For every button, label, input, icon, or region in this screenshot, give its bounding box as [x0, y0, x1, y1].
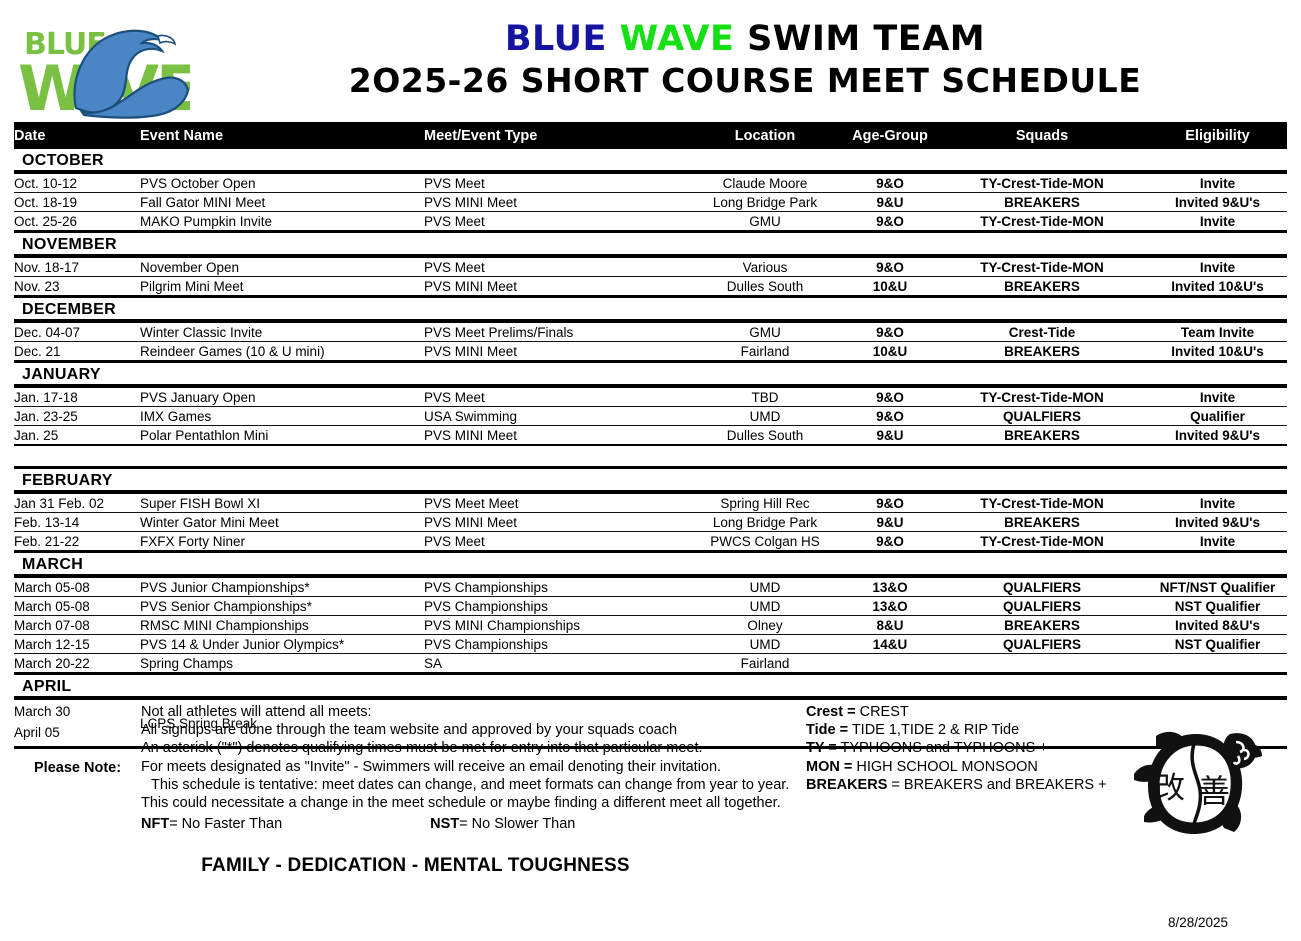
- table-row: Dec. 21Reindeer Games (10 & U mini)PVS M…: [14, 342, 1287, 362]
- cell-eligibility: [1148, 654, 1287, 674]
- cell-type: PVS Meet Prelims/Finals: [424, 321, 686, 342]
- cell-eligibility: Qualifier: [1148, 407, 1287, 426]
- cell-squads: QUALFIERS: [936, 576, 1148, 597]
- cell-squads: [936, 654, 1148, 674]
- note-line: For meets designated as "Invite" - Swimm…: [141, 758, 814, 776]
- cell-type: SA: [424, 654, 686, 674]
- blue-wave-logo-svg: BLUE W VE: [18, 12, 190, 120]
- cell-location: TBD: [686, 386, 844, 407]
- cell-event: Super FISH Bowl XI: [140, 492, 424, 513]
- cell-eligibility: Invited 9&U's: [1148, 513, 1287, 532]
- cell-squads: BREAKERS: [936, 342, 1148, 362]
- cell-event: FXFX Forty Niner: [140, 532, 424, 552]
- cell-date: Feb. 13-14: [14, 513, 140, 532]
- table-row: March 07-08RMSC MINI ChampionshipsPVS MI…: [14, 616, 1287, 635]
- cell-eligibility: Invited 10&U's: [1148, 342, 1287, 362]
- abbreviation-line: NFT= No Faster ThanNST= No Slower Than: [141, 815, 814, 833]
- table-row: March 20-22Spring ChampsSAFairland: [14, 654, 1287, 674]
- cell-age: [844, 445, 936, 468]
- table-row: Jan. 23-25IMX GamesUSA SwimmingUMD9&OQUA…: [14, 407, 1287, 426]
- cell-event: November Open: [140, 256, 424, 277]
- month-label: MARCH: [14, 552, 1287, 577]
- cell-squads: QUALFIERS: [936, 597, 1148, 616]
- cell-event: RMSC MINI Championships: [140, 616, 424, 635]
- cell-event: Polar Pentathlon Mini: [140, 426, 424, 446]
- note-line: Not all athletes will attend all meets:: [141, 703, 814, 721]
- cell-squads: Crest-Tide: [936, 321, 1148, 342]
- legend-item: MON = HIGH SCHOOL MONSOON: [806, 758, 1136, 776]
- cell-date: March 07-08: [14, 616, 140, 635]
- cell-squads: QUALFIERS: [936, 635, 1148, 654]
- cell-squads: QUALFIERS: [936, 407, 1148, 426]
- cell-location: Long Bridge Park: [686, 193, 844, 212]
- kaizen-turtle-icon: 改 善: [1126, 722, 1266, 848]
- cell-squads: BREAKERS: [936, 193, 1148, 212]
- table-row: Jan. 25Polar Pentathlon MiniPVS MINI Mee…: [14, 426, 1287, 446]
- cell-squads: BREAKERS: [936, 426, 1148, 446]
- cell-age: 9&U: [844, 513, 936, 532]
- page-title: BLUE WAVE SWIM TEAM: [200, 22, 1290, 58]
- schedule-table-wrapper: Date Event Name Meet/Event Type Location…: [14, 122, 1287, 749]
- cell-type: PVS Meet: [424, 532, 686, 552]
- column-header-age: Age-Group: [844, 122, 936, 149]
- cell-location: UMD: [686, 635, 844, 654]
- month-header-row: FEBRUARY: [14, 468, 1287, 493]
- cell-date: Jan 31 Feb. 02: [14, 492, 140, 513]
- cell-eligibility: Invite: [1148, 532, 1287, 552]
- cell-type: PVS Championships: [424, 576, 686, 597]
- team-tagline: FAMILY - DEDICATION - MENTAL TOUGHNESS: [0, 855, 1301, 877]
- cell-location: PWCS Colgan HS: [686, 532, 844, 552]
- table-header-row: Date Event Name Meet/Event Type Location…: [14, 122, 1287, 149]
- cell-eligibility: Invited 8&U's: [1148, 616, 1287, 635]
- cell-date: Jan. 17-18: [14, 386, 140, 407]
- cell-eligibility: NFT/NST Qualifier: [1148, 576, 1287, 597]
- cell-type: PVS MINI Meet: [424, 513, 686, 532]
- cell-squads: BREAKERS: [936, 277, 1148, 297]
- month-label: DECEMBER: [14, 297, 1287, 322]
- cell-location: Various: [686, 256, 844, 277]
- cell-location: Long Bridge Park: [686, 513, 844, 532]
- cell-date: Oct. 18-19: [14, 193, 140, 212]
- cell-date: March 05-08: [14, 597, 140, 616]
- please-note-block: Please Note: Not all athletes will atten…: [34, 703, 814, 833]
- cell-eligibility: Team Invite: [1148, 321, 1287, 342]
- cell-eligibility: Invited 9&U's: [1148, 426, 1287, 446]
- month-label: APRIL: [14, 674, 1287, 699]
- cell-squads: TY-Crest-Tide-MON: [936, 386, 1148, 407]
- title-blue-word: BLUE: [505, 19, 607, 59]
- cell-date: Nov. 18-17: [14, 256, 140, 277]
- document-date: 8/28/2025: [1168, 915, 1228, 930]
- month-header-row: MARCH: [14, 552, 1287, 577]
- month-label: NOVEMBER: [14, 232, 1287, 257]
- cell-type: PVS Meet: [424, 172, 686, 193]
- legend-abbr: Crest =: [806, 704, 856, 720]
- team-tagline-text: FAMILY - DEDICATION - MENTAL TOUGHNESS: [201, 855, 629, 876]
- cell-type: [424, 445, 686, 468]
- table-row: Nov. 23Pilgrim Mini MeetPVS MINI MeetDul…: [14, 277, 1287, 297]
- cell-event: Fall Gator MINI Meet: [140, 193, 424, 212]
- table-row: Feb. 21-22FXFX Forty NinerPVS MeetPWCS C…: [14, 532, 1287, 552]
- cell-event: Reindeer Games (10 & U mini): [140, 342, 424, 362]
- cell-age: 8&U: [844, 616, 936, 635]
- cell-location: Fairland: [686, 654, 844, 674]
- cell-date: [14, 445, 140, 468]
- cell-type: PVS MINI Meet: [424, 426, 686, 446]
- legend-abbr: TY =: [806, 740, 837, 756]
- cell-eligibility: Invite: [1148, 172, 1287, 193]
- table-spacer-row: [14, 445, 1287, 468]
- page-subtitle: 2O25-26 SHORT COURSE MEET SCHEDULE: [200, 64, 1290, 98]
- cell-event: Winter Classic Invite: [140, 321, 424, 342]
- table-row: Jan 31 Feb. 02Super FISH Bowl XIPVS Meet…: [14, 492, 1287, 513]
- cell-age: 9&O: [844, 212, 936, 232]
- column-header-squads: Squads: [936, 122, 1148, 149]
- cell-type: PVS MINI Meet: [424, 342, 686, 362]
- cell-location: Spring Hill Rec: [686, 492, 844, 513]
- cell-age: 9&O: [844, 492, 936, 513]
- page-header: BLUE W VE BLUE WAVE SWIM TEAM 2O25-26 SH…: [0, 0, 1301, 122]
- note-line: This could necessitate a change in the m…: [141, 794, 814, 812]
- table-row: Dec. 04-07Winter Classic InvitePVS Meet …: [14, 321, 1287, 342]
- cell-date: Dec. 04-07: [14, 321, 140, 342]
- month-header-row: DECEMBER: [14, 297, 1287, 322]
- cell-eligibility: NST Qualifier: [1148, 597, 1287, 616]
- legend-abbr: BREAKERS: [806, 777, 887, 793]
- please-note-label: Please Note:: [34, 759, 121, 777]
- cell-eligibility: [1148, 445, 1287, 468]
- cell-age: 9&O: [844, 256, 936, 277]
- cell-location: Olney: [686, 616, 844, 635]
- kanji-kaizen-right: 善: [1198, 772, 1230, 810]
- cell-age: 10&U: [844, 277, 936, 297]
- legend-text: HIGH SCHOOL MONSOON: [852, 759, 1038, 775]
- title-black-words: SWIM TEAM: [747, 19, 985, 59]
- cell-location: GMU: [686, 321, 844, 342]
- cell-date: Oct. 25-26: [14, 212, 140, 232]
- cell-age: 9&O: [844, 386, 936, 407]
- cell-location: Dulles South: [686, 277, 844, 297]
- note-line: This schedule is tentative: meet dates c…: [141, 776, 814, 794]
- cell-date: Jan. 25: [14, 426, 140, 446]
- month-header-row: OCTOBER: [14, 149, 1287, 172]
- cell-age: [844, 654, 936, 674]
- cell-event: PVS October Open: [140, 172, 424, 193]
- table-row: March 05-08PVS Senior Championships*PVS …: [14, 597, 1287, 616]
- cell-type: PVS Championships: [424, 597, 686, 616]
- cell-location: UMD: [686, 597, 844, 616]
- cell-type: PVS MINI Meet: [424, 277, 686, 297]
- legend-text: TYPHOONS and TYPHOONS +: [837, 740, 1048, 756]
- column-header-location: Location: [686, 122, 844, 149]
- meet-schedule-table: Date Event Name Meet/Event Type Location…: [14, 122, 1287, 749]
- table-row: Oct. 25-26MAKO Pumpkin InvitePVS MeetGMU…: [14, 212, 1287, 232]
- cell-date: Nov. 23: [14, 277, 140, 297]
- column-header-event: Event Name: [140, 122, 424, 149]
- cell-age: 9&O: [844, 407, 936, 426]
- cell-event: PVS Senior Championships*: [140, 597, 424, 616]
- column-header-type: Meet/Event Type: [424, 122, 686, 149]
- cell-eligibility: Invite: [1148, 492, 1287, 513]
- legend-abbr: Tide =: [806, 722, 848, 738]
- nst-text: = No Slower Than: [459, 816, 575, 832]
- cell-location: UMD: [686, 576, 844, 597]
- cell-eligibility: Invite: [1148, 256, 1287, 277]
- nft-text: = No Faster Than: [169, 816, 282, 832]
- note-lines: Not all athletes will attend all meets:A…: [141, 703, 814, 833]
- cell-event: Pilgrim Mini Meet: [140, 277, 424, 297]
- cell-type: PVS Meet: [424, 386, 686, 407]
- cell-age: 9&U: [844, 193, 936, 212]
- cell-event: IMX Games: [140, 407, 424, 426]
- cell-event: Winter Gator Mini Meet: [140, 513, 424, 532]
- cell-squads: BREAKERS: [936, 513, 1148, 532]
- cell-event: PVS Junior Championships*: [140, 576, 424, 597]
- legend-item: BREAKERS = BREAKERS and BREAKERS +: [806, 776, 1136, 794]
- cell-date: Dec. 21: [14, 342, 140, 362]
- cell-location: GMU: [686, 212, 844, 232]
- blue-wave-logo: BLUE W VE: [18, 12, 190, 120]
- cell-eligibility: Invite: [1148, 212, 1287, 232]
- cell-event: Spring Champs: [140, 654, 424, 674]
- cell-date: March 05-08: [14, 576, 140, 597]
- table-row: Nov. 18-17November OpenPVS MeetVarious9&…: [14, 256, 1287, 277]
- table-row: Oct. 18-19Fall Gator MINI MeetPVS MINI M…: [14, 193, 1287, 212]
- cell-type: PVS MINI Championships: [424, 616, 686, 635]
- squad-legend: Crest = CRESTTide = TIDE 1,TIDE 2 & RIP …: [806, 703, 1136, 794]
- table-row: March 05-08PVS Junior Championships*PVS …: [14, 576, 1287, 597]
- cell-age: 9&O: [844, 321, 936, 342]
- cell-squads: TY-Crest-Tide-MON: [936, 172, 1148, 193]
- table-row: Oct. 10-12PVS October OpenPVS MeetClaude…: [14, 172, 1287, 193]
- note-line: An asterisk ("*") denotes qualifying tim…: [141, 739, 814, 757]
- cell-type: PVS Championships: [424, 635, 686, 654]
- legend-item: TY = TYPHOONS and TYPHOONS +: [806, 739, 1136, 757]
- cell-age: 14&U: [844, 635, 936, 654]
- legend-item: Tide = TIDE 1,TIDE 2 & RIP Tide: [806, 721, 1136, 739]
- cell-event: [140, 445, 424, 468]
- kanji-kaizen-left: 改: [1155, 771, 1185, 806]
- table-row: Jan. 17-18PVS January OpenPVS MeetTBD9&O…: [14, 386, 1287, 407]
- month-header-row: JANUARY: [14, 362, 1287, 387]
- legend-abbr: MON =: [806, 759, 852, 775]
- month-label: FEBRUARY: [14, 468, 1287, 493]
- legend-text: CREST: [856, 704, 909, 720]
- column-header-eligibility: Eligibility: [1148, 122, 1287, 149]
- cell-age: 10&U: [844, 342, 936, 362]
- nft-abbr: NFT: [141, 816, 169, 832]
- cell-squads: TY-Crest-Tide-MON: [936, 256, 1148, 277]
- cell-event: PVS January Open: [140, 386, 424, 407]
- cell-squads: TY-Crest-Tide-MON: [936, 492, 1148, 513]
- table-head: Date Event Name Meet/Event Type Location…: [14, 122, 1287, 149]
- month-header-row: APRIL: [14, 674, 1287, 699]
- cell-location: Dulles South: [686, 426, 844, 446]
- cell-squads: TY-Crest-Tide-MON: [936, 212, 1148, 232]
- cell-date: Oct. 10-12: [14, 172, 140, 193]
- cell-eligibility: NST Qualifier: [1148, 635, 1287, 654]
- cell-squads: TY-Crest-Tide-MON: [936, 532, 1148, 552]
- cell-eligibility: Invite: [1148, 386, 1287, 407]
- cell-date: March 20-22: [14, 654, 140, 674]
- cell-event: PVS 14 & Under Junior Olympics*: [140, 635, 424, 654]
- cell-eligibility: Invited 10&U's: [1148, 277, 1287, 297]
- nst-abbr: NST: [430, 816, 459, 832]
- cell-age: 13&O: [844, 576, 936, 597]
- cell-eligibility: Invited 9&U's: [1148, 193, 1287, 212]
- legend-text: = BREAKERS and BREAKERS +: [887, 777, 1106, 793]
- cell-type: PVS Meet: [424, 256, 686, 277]
- title-green-word: WAVE: [620, 19, 735, 59]
- cell-event: MAKO Pumpkin Invite: [140, 212, 424, 232]
- table-row: March 12-15PVS 14 & Under Junior Olympic…: [14, 635, 1287, 654]
- table-row: Feb. 13-14Winter Gator Mini MeetPVS MINI…: [14, 513, 1287, 532]
- cell-location: [686, 445, 844, 468]
- month-header-row: NOVEMBER: [14, 232, 1287, 257]
- cell-age: 9&U: [844, 426, 936, 446]
- cell-date: March 12-15: [14, 635, 140, 654]
- cell-location: UMD: [686, 407, 844, 426]
- cell-squads: BREAKERS: [936, 616, 1148, 635]
- title-block: BLUE WAVE SWIM TEAM 2O25-26 SHORT COURSE…: [200, 22, 1290, 97]
- cell-location: Fairland: [686, 342, 844, 362]
- cell-type: PVS Meet: [424, 212, 686, 232]
- column-header-date: Date: [14, 122, 140, 149]
- cell-location: Claude Moore: [686, 172, 844, 193]
- month-label: OCTOBER: [14, 149, 1287, 172]
- legend-item: Crest = CREST: [806, 703, 1136, 721]
- legend-text: TIDE 1,TIDE 2 & RIP Tide: [848, 722, 1019, 738]
- month-label: JANUARY: [14, 362, 1287, 387]
- kaizen-turtle-svg: 改 善: [1126, 722, 1266, 848]
- cell-type: PVS Meet Meet: [424, 492, 686, 513]
- cell-date: Feb. 21-22: [14, 532, 140, 552]
- cell-date: Jan. 23-25: [14, 407, 140, 426]
- table-body: OCTOBEROct. 10-12PVS October OpenPVS Mee…: [14, 149, 1287, 748]
- note-line: All signups are done through the team we…: [141, 721, 814, 739]
- cell-age: 9&O: [844, 532, 936, 552]
- cell-type: USA Swimming: [424, 407, 686, 426]
- cell-type: PVS MINI Meet: [424, 193, 686, 212]
- cell-age: 9&O: [844, 172, 936, 193]
- cell-squads: [936, 445, 1148, 468]
- cell-age: 13&O: [844, 597, 936, 616]
